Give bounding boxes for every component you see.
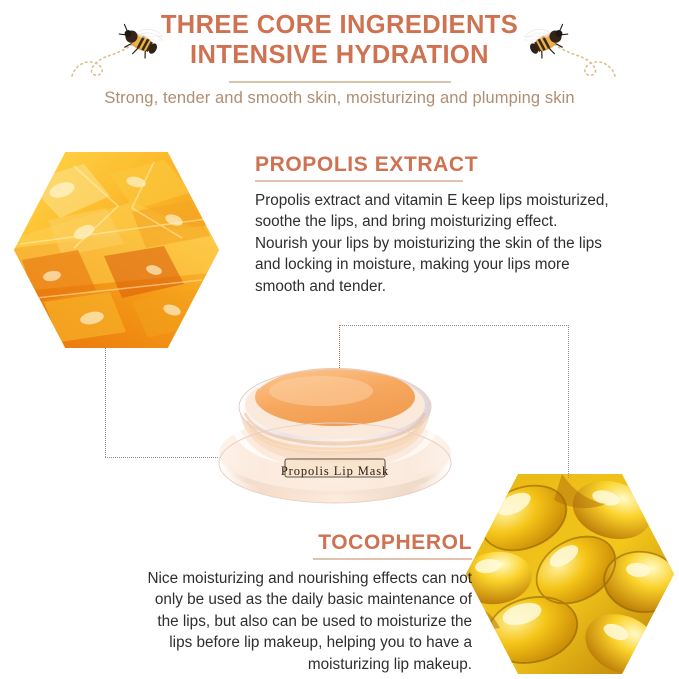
title-line-1: THREE CORE INGREDIENTS	[0, 10, 679, 40]
connector-line-honeycomb-vertical	[105, 347, 106, 457]
tocopherol-body-line: lips before lip makeup, helping you to h…	[22, 632, 472, 654]
section-tocopherol: TOCOPHEROL Nice moisturizing and nourish…	[22, 530, 472, 675]
vitamin-e-capsules-hexagon-image	[466, 474, 674, 674]
propolis-body-line: smooth and tender.	[255, 276, 667, 298]
subtitle: Strong, tender and smooth skin, moisturi…	[0, 89, 679, 108]
tocopherol-body: Nice moisturizing and nourishing effects…	[22, 568, 472, 676]
tocopherol-body-line: moisturizing lip makeup.	[22, 654, 472, 676]
product-jar-image: Propolis Lip Mask	[217, 345, 453, 505]
propolis-body-line: soothe the lips, and bring moisturizing …	[255, 211, 667, 233]
section-propolis-extract: PROPOLIS EXTRACT Propolis extract and vi…	[255, 152, 667, 297]
header: THREE CORE INGREDIENTS INTENSIVE HYDRATI…	[0, 0, 679, 130]
product-label: Propolis Lip Mask	[217, 464, 453, 479]
propolis-body-line: Propolis extract and vitamin E keep lips…	[255, 190, 667, 212]
page-title: THREE CORE INGREDIENTS INTENSIVE HYDRATI…	[0, 10, 679, 70]
tocopherol-heading-underline	[313, 558, 472, 560]
propolis-heading: PROPOLIS EXTRACT	[255, 152, 667, 178]
tocopherol-body-line: the lips, but also can be used to moistu…	[22, 611, 472, 633]
propolis-body-line: and locking in moisture, making your lip…	[255, 254, 667, 276]
product-infographic: THREE CORE INGREDIENTS INTENSIVE HYDRATI…	[0, 0, 679, 679]
honeycomb-hexagon-image	[14, 152, 219, 348]
tocopherol-body-line: only be used as the daily basic maintena…	[22, 589, 472, 611]
tocopherol-body-line: Nice moisturizing and nourishing effects…	[22, 568, 472, 590]
title-line-2: INTENSIVE HYDRATION	[0, 40, 679, 70]
propolis-heading-underline	[255, 180, 463, 182]
propolis-body-line: Nourish your lips by moisturizing the sk…	[255, 233, 667, 255]
connector-line-capsules-vertical	[568, 325, 569, 478]
title-divider	[229, 81, 451, 83]
connector-line-top-horizontal	[339, 325, 569, 326]
propolis-body: Propolis extract and vitamin E keep lips…	[255, 190, 667, 298]
tocopherol-heading: TOCOPHEROL	[22, 530, 472, 556]
